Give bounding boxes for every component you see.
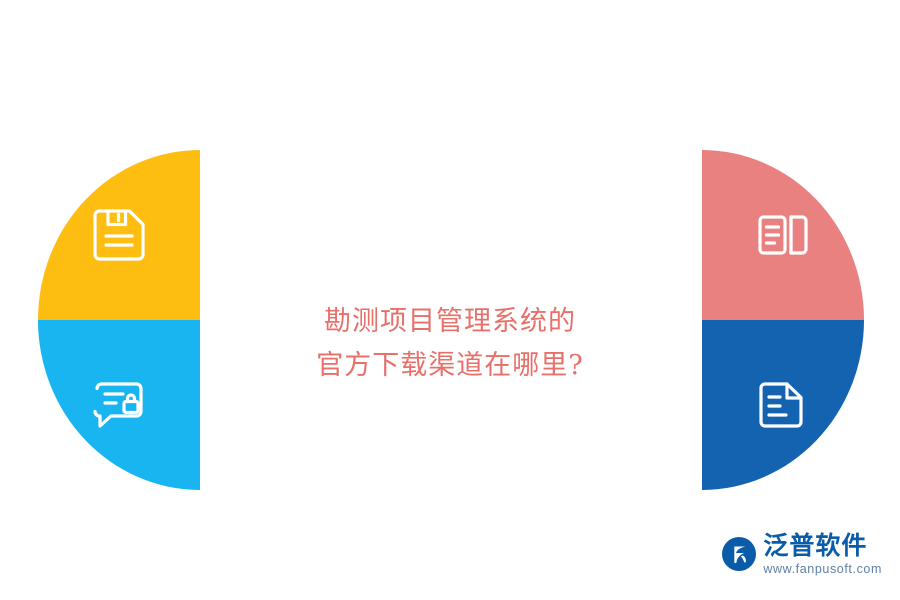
left-bottom-petal (38, 320, 200, 490)
document-lines-icon (751, 373, 815, 437)
watermark-text: 泛普软件 www.fanpusoft.com (763, 533, 882, 576)
left-decoration-group (38, 150, 200, 490)
copy-documents-icon (751, 203, 815, 267)
right-top-petal (702, 150, 864, 320)
chat-bubble-lock-icon (87, 373, 151, 437)
fanpu-logo-icon (721, 536, 757, 572)
right-decoration-group (702, 150, 864, 490)
left-top-petal (38, 150, 200, 320)
watermark-url: www.fanpusoft.com (763, 563, 882, 576)
watermark: 泛普软件 www.fanpusoft.com (721, 528, 882, 580)
page-title-line-2: 官方下载渠道在哪里? (230, 344, 670, 388)
watermark-brand-name: 泛普软件 (763, 533, 882, 558)
page-title: 勘测项目管理系统的 官方下载渠道在哪里? (230, 300, 670, 388)
save-floppy-disk-icon (87, 203, 151, 267)
right-bottom-petal (702, 320, 864, 490)
page-title-line-1: 勘测项目管理系统的 (230, 300, 670, 344)
